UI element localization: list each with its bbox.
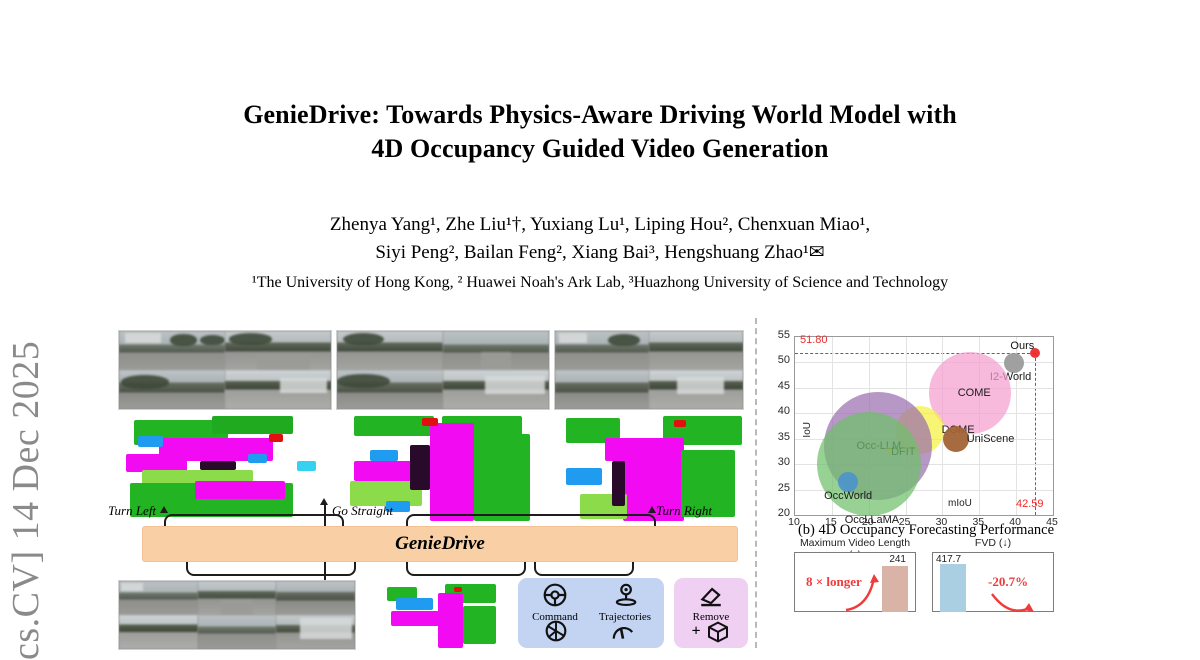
generated-video-frames [118, 580, 356, 650]
camera-view [225, 331, 331, 370]
control-panel-edit[interactable]: Remove + [674, 578, 748, 648]
ours-miou-value: 42.59 [1016, 498, 1044, 510]
x-tick-label: 45 [1040, 516, 1064, 528]
scatter-bubble-uniscene [943, 426, 969, 452]
compass-icon [543, 618, 569, 644]
camera-view [443, 370, 549, 409]
y-tick-label: 20 [768, 507, 790, 519]
column-divider [755, 318, 757, 648]
control-item-add[interactable]: + [674, 620, 748, 644]
map-pin-path-icon [612, 582, 638, 608]
control-item-speed[interactable] [592, 618, 654, 647]
x-tick-label: 15 [819, 516, 843, 528]
page-title: GenieDrive: Towards Physics-Aware Drivin… [150, 98, 1050, 166]
x-axis-label: mIoU [948, 498, 972, 509]
mini-chart-video-length: Maximum Video Length (↑) 241 8 × longer [794, 552, 916, 612]
y-tick-label: 25 [768, 482, 790, 494]
title-line-2: 4D Occupancy Guided Video Generation [150, 132, 1050, 166]
ours-iou-value: 51.80 [800, 334, 828, 346]
control-item-compass[interactable] [528, 618, 584, 647]
control-item-trajectories[interactable]: Trajectories [588, 582, 662, 623]
command-label-turn-right: Turn Right [656, 503, 712, 519]
grid-line-h [795, 388, 1053, 389]
generated-frame [198, 615, 277, 649]
growth-arrow-icon [840, 568, 890, 612]
mini-chart-fvd-title: FVD (↓) [932, 537, 1054, 549]
generated-occupancy-map [382, 584, 498, 648]
mini-chart-fvd: FVD (↓) 417.7 -20.7% [932, 552, 1054, 612]
command-label-turn-left: Turn Left [108, 503, 156, 519]
camera-view [555, 370, 649, 409]
camera-view [119, 331, 225, 370]
steering-wheel-icon [542, 582, 568, 608]
scatter-label-occworld: OccWorld [824, 490, 872, 502]
author-line-1: Zhenya Yang¹, Zhe Liu¹†, Yuxiang Lu¹, Li… [150, 211, 1050, 239]
cube-icon [705, 620, 731, 644]
connector-center-up [324, 504, 326, 528]
camera-view [337, 331, 443, 370]
arxiv-stamp: cs.CV] 14 Dec 2025 [0, 300, 58, 660]
generated-frame [119, 615, 198, 649]
control-item-remove[interactable]: Remove [674, 582, 748, 623]
control-panel-command[interactable]: Command Trajectories [518, 578, 664, 648]
geniedrive-model-label: GenieDrive [395, 533, 485, 555]
x-tick-label: 30 [929, 516, 953, 528]
arrow-up-icon [160, 506, 168, 513]
author-list: Zhenya Yang¹, Zhe Liu¹†, Yuxiang Lu¹, Li… [150, 211, 1050, 267]
y-tick-label: 40 [768, 405, 790, 417]
mini-bar-value: 241 [889, 554, 906, 565]
affiliation-line: ¹The University of Hong Kong, ² Huawei N… [120, 272, 1080, 294]
ours-miou-vline [1035, 353, 1036, 515]
camera-strip-left [118, 330, 332, 410]
camera-strip-right [554, 330, 744, 410]
scatter-plot-area: OursI2-WorldCOMEDOMEUniSceneOcc-LLM×DFIT… [794, 336, 1054, 516]
camera-strip-center [336, 330, 550, 410]
arrow-up-icon [648, 506, 656, 513]
camera-view [443, 331, 549, 370]
camera-view [337, 370, 443, 409]
figure-b-scatter: OursI2-WorldCOMEDOMEUniSceneOcc-LLM×DFIT… [768, 330, 1084, 648]
title-line-1: GenieDrive: Towards Physics-Aware Drivin… [243, 100, 957, 129]
y-tick-label: 55 [768, 329, 790, 341]
control-item-add-label: + [691, 623, 700, 640]
connector-center-down [324, 560, 326, 580]
x-tick-label: 20 [856, 516, 880, 528]
camera-view [555, 331, 649, 370]
generated-frame [276, 615, 355, 649]
scatter-label-uniscene: UniScene [967, 433, 1015, 445]
x-tick-label: 40 [1003, 516, 1027, 528]
eraser-icon [698, 582, 724, 608]
camera-view [649, 370, 743, 409]
scatter-label-come: COME [958, 387, 991, 399]
y-tick-label: 45 [768, 380, 790, 392]
camera-view [225, 370, 331, 409]
speedometer-icon [610, 618, 636, 644]
y-tick-label: 50 [768, 354, 790, 366]
control-item-command[interactable]: Command [522, 582, 588, 623]
y-tick-label: 30 [768, 456, 790, 468]
generated-frame [198, 581, 277, 615]
x-tick-label: 25 [893, 516, 917, 528]
author-line-2: Siyi Peng², Bailan Feng², Xiang Bai³, He… [150, 239, 1050, 267]
generated-frame [119, 581, 198, 615]
camera-view [119, 370, 225, 409]
geniedrive-model-bar: GenieDrive [142, 526, 738, 562]
y-tick-label: 35 [768, 431, 790, 443]
generated-frame [276, 581, 355, 615]
brace-panel2-down [534, 560, 634, 576]
scatter-label-ours: Ours [1010, 340, 1034, 352]
camera-view [649, 331, 743, 370]
figure-a-pipeline: Turn Left Go Straight Turn Right [110, 328, 750, 648]
mini-bar [940, 564, 966, 612]
brace-left-down [186, 560, 356, 576]
mini-bar-value: 417.7 [936, 554, 961, 565]
x-tick-label: 35 [966, 516, 990, 528]
scatter-bubble-i2-world [1004, 353, 1024, 373]
arrow-up-icon [320, 498, 328, 505]
paper-page: cs.CV] 14 Dec 2025 GenieDrive: Towards P… [0, 0, 1200, 648]
brace-panel-down [406, 560, 526, 576]
y-axis-label: IoU [802, 422, 813, 438]
decline-arrow-icon [990, 588, 1042, 618]
